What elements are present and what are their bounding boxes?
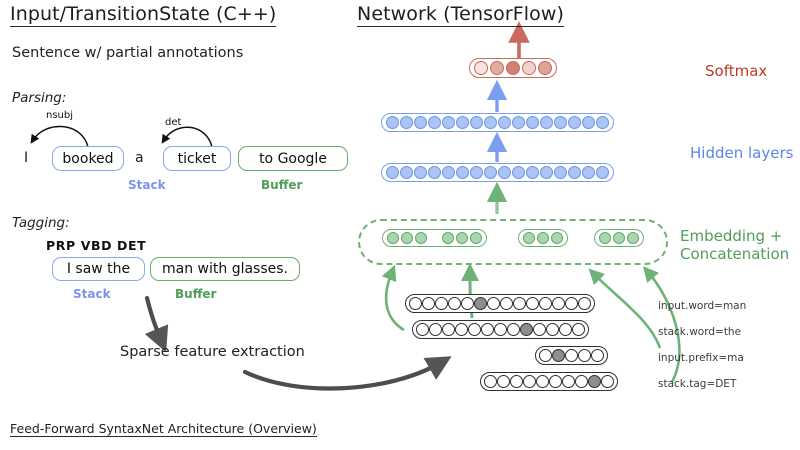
tagging-stack-label: Stack xyxy=(73,287,111,301)
sparse-feature-inactive xyxy=(565,349,578,362)
sparse-feature-inactive xyxy=(507,323,520,336)
softmax-unit xyxy=(506,61,520,75)
hidden-unit xyxy=(498,116,511,129)
parsing-buffer-label: Buffer xyxy=(261,178,302,192)
diagram-canvas: Input/TransitionState (C++) Sentence w/ … xyxy=(0,0,800,450)
embedding-unit xyxy=(613,232,625,244)
embedding-group-2[interactable] xyxy=(518,229,568,247)
sparse-feature-inactive xyxy=(429,323,442,336)
hidden-unit xyxy=(568,166,581,179)
sparse-feature-active xyxy=(552,349,565,362)
embedding-unit xyxy=(387,232,399,244)
sparse-feature-row-3[interactable] xyxy=(535,346,608,365)
arrow-to-sparse-extraction xyxy=(147,298,161,340)
sparse-feature-inactive xyxy=(533,323,546,336)
sparse-feature-inactive xyxy=(484,375,497,388)
parsing-token-ticket-text: ticket xyxy=(175,151,220,167)
hidden-unit xyxy=(456,116,469,129)
dependency-arc-nsubj xyxy=(33,126,88,147)
embedding-group-1[interactable] xyxy=(382,229,487,247)
tagging-section-label: Tagging: xyxy=(12,215,70,231)
parsing-buffer-tokens-text: to Google xyxy=(256,151,330,167)
sparse-feature-inactive xyxy=(565,297,578,310)
hidden-unit xyxy=(540,116,553,129)
feature-label-3: input.prefix=ma xyxy=(658,352,744,364)
hidden-unit xyxy=(414,116,427,129)
sparse-feature-inactive xyxy=(523,375,536,388)
parsing-token-i: I xyxy=(24,150,28,166)
sparse-feature-active xyxy=(588,375,601,388)
softmax-layer[interactable] xyxy=(469,58,557,78)
right-panel-title: Network (TensorFlow) xyxy=(357,5,564,27)
arc-label-det: det xyxy=(165,117,181,128)
hidden-unit xyxy=(526,166,539,179)
embedding-unit xyxy=(470,232,482,244)
sparse-feature-inactive xyxy=(500,297,513,310)
sparse-feature-row-1[interactable] xyxy=(405,294,595,313)
sparse-feature-active xyxy=(474,297,487,310)
sparse-feature-row-4[interactable] xyxy=(480,372,618,391)
sparse-feature-extraction-label: Sparse feature extraction xyxy=(120,344,305,360)
sparse-feature-inactive xyxy=(513,297,526,310)
sparse-feature-inactive xyxy=(572,323,585,336)
sparse-feature-inactive xyxy=(448,297,461,310)
embedding-unit xyxy=(537,232,549,244)
hidden-unit xyxy=(386,116,399,129)
sparse-feature-inactive xyxy=(461,297,474,310)
left-panel-subtitle: Sentence w/ partial annotations xyxy=(12,45,243,61)
hidden-unit xyxy=(428,166,441,179)
tagging-buffer-label: Buffer xyxy=(175,287,216,301)
sparse-feature-inactive xyxy=(510,375,523,388)
tagging-buffer-tokens[interactable]: man with glasses. xyxy=(150,257,300,281)
hidden-unit xyxy=(596,116,609,129)
sparse-feature-inactive xyxy=(526,297,539,310)
tagging-stack-tokens[interactable]: I saw the xyxy=(52,257,145,281)
hidden-unit xyxy=(582,116,595,129)
parsing-token-booked-text: booked xyxy=(59,151,116,167)
hidden-unit xyxy=(526,116,539,129)
tagging-buffer-tokens-text: man with glasses. xyxy=(159,261,291,277)
sparse-feature-inactive xyxy=(497,375,510,388)
label-embedding-line1: Embedding + xyxy=(680,228,789,246)
parsing-buffer-tokens[interactable]: to Google xyxy=(238,146,348,171)
label-embedding-concatenation: Embedding + Concatenation xyxy=(680,228,789,263)
sparse-feature-inactive xyxy=(539,349,552,362)
arrow-feature-to-embedding-3 xyxy=(594,274,660,348)
figure-caption: Feed-Forward SyntaxNet Architecture (Ove… xyxy=(10,422,317,437)
softmax-unit xyxy=(522,61,536,75)
embedding-unit xyxy=(551,232,563,244)
label-embedding-line2: Concatenation xyxy=(680,246,789,264)
embedding-group-3[interactable] xyxy=(594,229,644,247)
embedding-unit xyxy=(456,232,468,244)
sparse-feature-inactive xyxy=(536,375,549,388)
sparse-feature-inactive xyxy=(442,323,455,336)
embedding-unit xyxy=(627,232,639,244)
hidden-unit xyxy=(596,166,609,179)
sparse-feature-inactive xyxy=(455,323,468,336)
sparse-feature-inactive xyxy=(416,323,429,336)
label-softmax: Softmax xyxy=(705,63,767,81)
embedding-unit xyxy=(599,232,611,244)
embedding-unit xyxy=(401,232,413,244)
hidden-unit xyxy=(400,116,413,129)
sparse-feature-inactive xyxy=(481,323,494,336)
hidden-unit xyxy=(400,166,413,179)
sparse-feature-inactive xyxy=(487,297,500,310)
hidden-unit xyxy=(540,166,553,179)
embedding-unit xyxy=(442,232,454,244)
sparse-feature-inactive xyxy=(578,349,591,362)
softmax-unit xyxy=(490,61,504,75)
hidden-unit xyxy=(414,166,427,179)
sparse-feature-inactive xyxy=(494,323,507,336)
parsing-token-booked[interactable]: booked xyxy=(52,146,124,171)
hidden-unit xyxy=(554,166,567,179)
hidden-unit xyxy=(442,116,455,129)
parsing-stack-label: Stack xyxy=(128,178,166,192)
parsing-token-ticket[interactable]: ticket xyxy=(163,146,231,171)
tagging-stack-tokens-text: I saw the xyxy=(64,261,133,277)
sparse-feature-inactive xyxy=(539,297,552,310)
embedding-unit xyxy=(523,232,535,244)
hidden-unit xyxy=(456,166,469,179)
hidden-unit xyxy=(484,166,497,179)
sparse-feature-inactive xyxy=(552,297,565,310)
sparse-feature-active xyxy=(520,323,533,336)
embedding-unit xyxy=(415,232,427,244)
hidden-unit xyxy=(428,116,441,129)
sparse-feature-inactive xyxy=(409,297,422,310)
hidden-unit xyxy=(554,116,567,129)
hidden-unit xyxy=(582,166,595,179)
hidden-unit xyxy=(512,116,525,129)
tag-sequence: PRP VBD DET xyxy=(46,238,146,253)
hidden-unit xyxy=(512,166,525,179)
arrow-feature-to-embedding-1 xyxy=(386,272,404,330)
sparse-feature-inactive xyxy=(422,297,435,310)
hidden-unit xyxy=(386,166,399,179)
feature-label-2: stack.word=the xyxy=(658,326,741,338)
hidden-unit xyxy=(568,116,581,129)
hidden-unit xyxy=(470,166,483,179)
sparse-feature-row-2[interactable] xyxy=(412,320,589,339)
sparse-feature-inactive xyxy=(549,375,562,388)
sparse-feature-inactive xyxy=(468,323,481,336)
label-hidden-layers: Hidden layers xyxy=(690,145,793,163)
sparse-feature-inactive xyxy=(546,323,559,336)
left-panel-title: Input/TransitionState (C++) xyxy=(10,5,276,27)
sparse-feature-inactive xyxy=(562,375,575,388)
dependency-arc-det xyxy=(164,127,212,147)
arrow-extraction-to-features xyxy=(245,363,440,389)
softmax-unit xyxy=(474,61,488,75)
softmax-unit xyxy=(538,61,552,75)
sparse-feature-inactive xyxy=(575,375,588,388)
sparse-feature-inactive xyxy=(601,375,614,388)
feature-label-1: input.word=man xyxy=(658,300,746,312)
hidden-layer-1[interactable] xyxy=(381,163,614,182)
parsing-section-label: Parsing: xyxy=(12,90,66,106)
hidden-unit xyxy=(442,166,455,179)
arc-label-nsubj: nsubj xyxy=(46,110,73,121)
sparse-feature-inactive xyxy=(591,349,604,362)
sparse-feature-inactive xyxy=(435,297,448,310)
hidden-layer-2[interactable] xyxy=(381,113,614,132)
hidden-unit xyxy=(484,116,497,129)
sparse-feature-inactive xyxy=(559,323,572,336)
parsing-token-a: a xyxy=(135,150,144,166)
feature-label-4: stack.tag=DET xyxy=(658,378,736,390)
hidden-unit xyxy=(498,166,511,179)
hidden-unit xyxy=(470,116,483,129)
sparse-feature-inactive xyxy=(578,297,591,310)
